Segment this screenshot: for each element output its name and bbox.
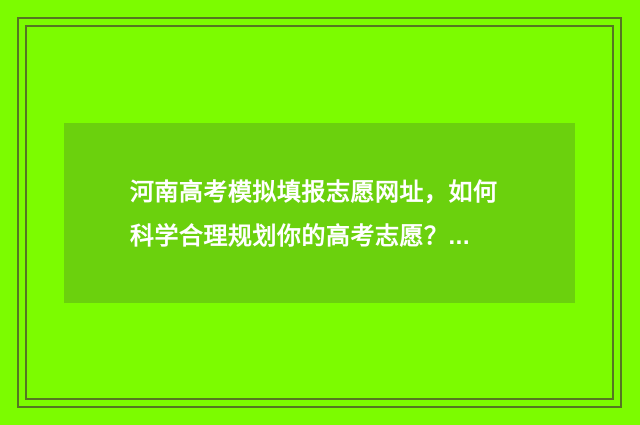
headline-text: 河南高考模拟填报志愿网址，如何 科学合理规划你的高考志愿？...	[130, 171, 545, 259]
headline-card: 河南高考模拟填报志愿网址，如何 科学合理规划你的高考志愿？...	[64, 123, 575, 303]
thumbnail-canvas: 河南高考模拟填报志愿网址，如何 科学合理规划你的高考志愿？...	[0, 0, 640, 425]
